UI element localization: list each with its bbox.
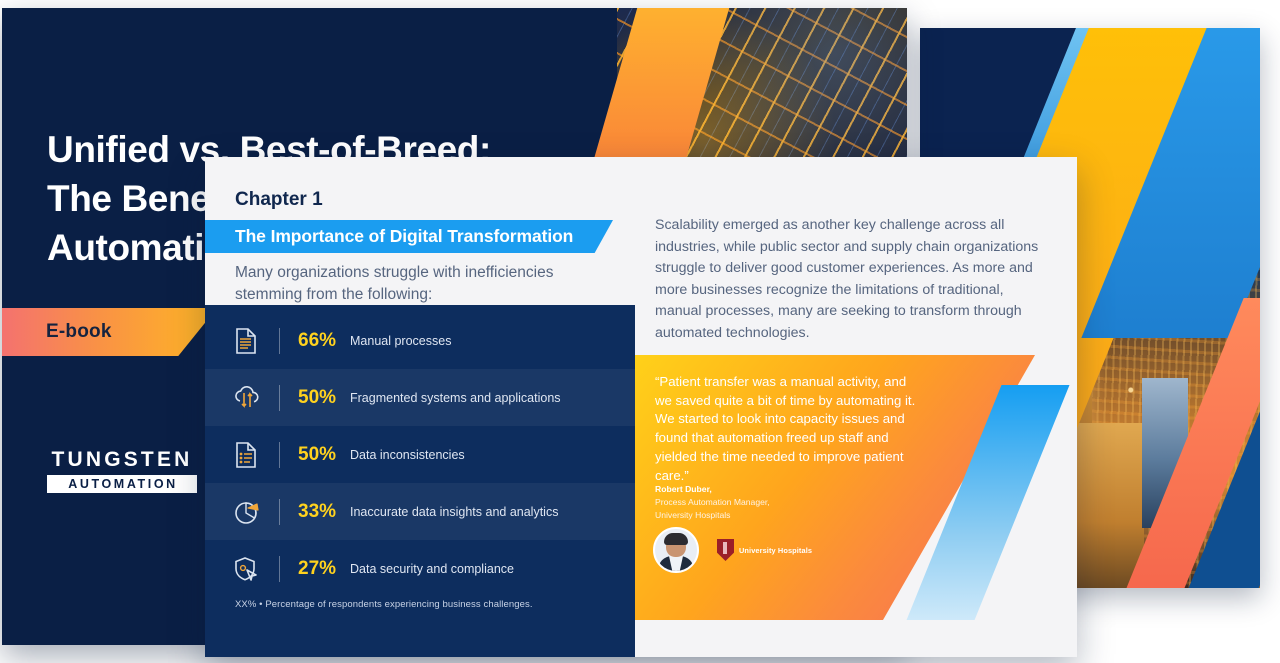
stat-percent: 33%	[298, 501, 350, 523]
ebook-badge-label: E-book	[46, 321, 112, 343]
quote-attribution: Robert Duber, Process Automation Manager…	[655, 483, 895, 522]
avatar-hair	[664, 533, 688, 545]
chapter-right-column: Scalability emerged as another key chall…	[635, 157, 1077, 657]
stat-label: Inaccurate data insights and analytics	[350, 505, 558, 519]
intro-paragraph: Many organizations struggle with ineffic…	[235, 262, 605, 306]
chapter-content-page: Chapter 1 The Importance of Digital Tran…	[205, 157, 1077, 657]
table-row: 33% Inaccurate data insights and analyti…	[205, 483, 635, 540]
table-row: 27% Data security and compliance	[205, 540, 635, 597]
footnote: XX% • Percentage of respondents experien…	[235, 599, 533, 610]
stat-label: Fragmented systems and applications	[350, 391, 561, 405]
table-row: 66% Manual processes	[205, 312, 635, 369]
stat-percent: 50%	[298, 444, 350, 466]
stat-label: Manual processes	[350, 334, 451, 348]
stat-percent: 66%	[298, 330, 350, 352]
skyscraper-shape	[1070, 423, 1144, 588]
divider	[279, 385, 280, 411]
quote-attribution-name: Robert Duber,	[655, 484, 712, 494]
ebook-badge: E-book	[2, 308, 217, 356]
body-paragraph: Scalability emerged as another key chall…	[655, 215, 1050, 344]
chapter-left-column: Chapter 1 The Importance of Digital Tran…	[205, 157, 635, 657]
quote-text: “Patient transfer was a manual activity,…	[655, 373, 917, 485]
composition-stage: Unified vs. Best-of-Breed:The Benefits o…	[0, 0, 1280, 663]
divider	[279, 442, 280, 468]
stat-label: Data security and compliance	[350, 562, 514, 576]
chapter-title-banner: The Importance of Digital Transformation	[205, 220, 613, 253]
chapter-title: The Importance of Digital Transformation	[235, 226, 573, 247]
document-list-icon	[233, 441, 279, 469]
cloud-arrows-icon	[233, 384, 279, 412]
quote-attribution-org: University Hospitals	[655, 510, 730, 520]
document-lines-icon	[233, 327, 279, 355]
shield-cursor-icon	[233, 555, 279, 583]
university-hospitals-logo: University Hospitals	[717, 539, 812, 561]
pie-chart-icon	[233, 498, 279, 526]
university-hospitals-logo-text: University Hospitals	[739, 546, 812, 555]
logo-secondary-text: AUTOMATION	[47, 475, 197, 493]
logo-primary-text: TUNGSTEN	[47, 448, 197, 472]
statistics-list: 66% Manual processes 50% Fragmented syst…	[205, 312, 635, 597]
divider	[279, 328, 280, 354]
divider	[279, 556, 280, 582]
table-row: 50% Data inconsistencies	[205, 426, 635, 483]
quote-person-row: University Hospitals	[653, 527, 812, 573]
stat-percent: 50%	[298, 387, 350, 409]
customer-quote-block: “Patient transfer was a manual activity,…	[635, 355, 1077, 620]
avatar	[653, 527, 699, 573]
table-row: 50% Fragmented systems and applications	[205, 369, 635, 426]
divider	[279, 499, 280, 525]
stat-label: Data inconsistencies	[350, 448, 465, 462]
shield-icon	[717, 539, 734, 561]
tungsten-logo: TUNGSTEN AUTOMATION	[47, 448, 197, 493]
quote-attribution-role: Process Automation Manager,	[655, 497, 770, 507]
stat-percent: 27%	[298, 558, 350, 580]
chapter-label: Chapter 1	[235, 189, 323, 211]
